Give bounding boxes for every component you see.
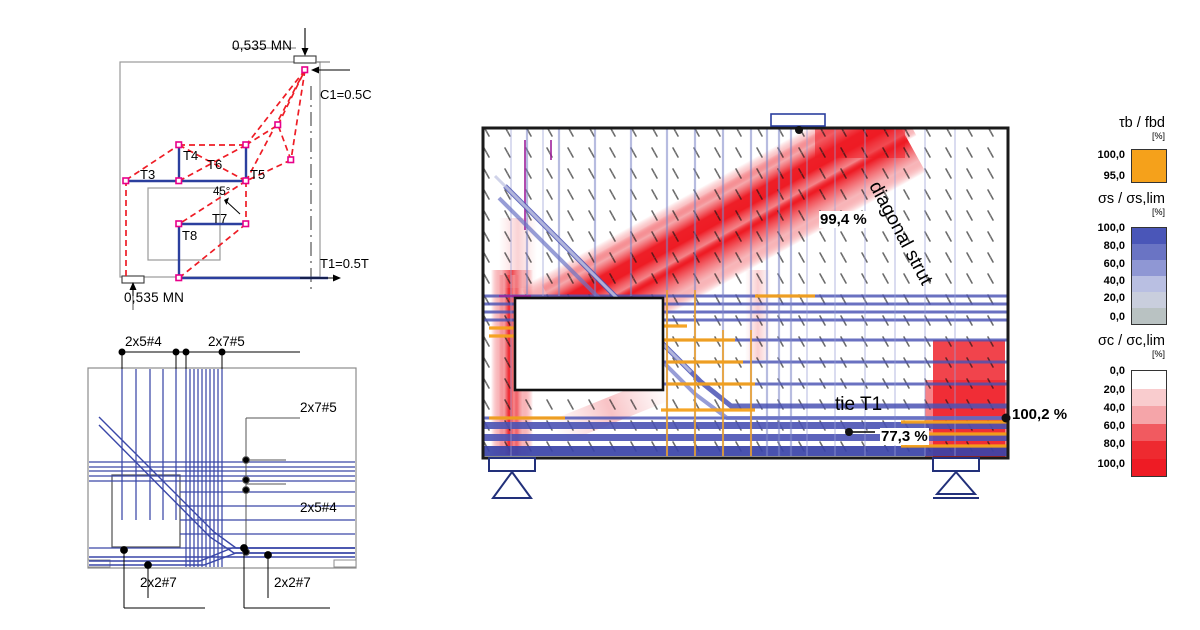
bond-stress-colorbar bbox=[1131, 149, 1167, 183]
tie-label-T8: T8 bbox=[182, 228, 197, 243]
reinforcement-panel: 2x5#4 2x7#5 2x7#5 2x5#4 2x2#7 2x2#7 bbox=[0, 320, 420, 630]
steel-seg-4 bbox=[1132, 292, 1166, 308]
concrete-seg-0 bbox=[1132, 371, 1166, 389]
steel-stress-colorbar bbox=[1131, 227, 1167, 325]
bottom-bearing-plate bbox=[122, 276, 144, 283]
bond-tick-1: 95,0 bbox=[1055, 170, 1125, 182]
steel-tick-5: 0,0 bbox=[1055, 311, 1125, 323]
steel-tick-3: 40,0 bbox=[1055, 275, 1125, 287]
load-arrows bbox=[130, 28, 351, 310]
concrete-tick-4: 80,0 bbox=[1055, 438, 1125, 450]
legend-panel: τb / fbd [%] 100,0 95,0 σs / σs,lim [%] … bbox=[1035, 115, 1200, 535]
concrete-tick-5: 100,0 bbox=[1049, 458, 1125, 470]
compression-force-label: C1=0.5C bbox=[320, 87, 372, 102]
scale-title-concrete: σc / σc,lim bbox=[1035, 333, 1165, 349]
opening-cutout bbox=[515, 298, 663, 390]
right-support bbox=[933, 458, 979, 498]
scale-title-bond: τb / fbd bbox=[1035, 115, 1165, 131]
concrete-tick-3: 60,0 bbox=[1055, 420, 1125, 432]
annotation-top-utilisation: 99,4 % bbox=[819, 211, 868, 228]
scale-unit-bond: [%] bbox=[1035, 131, 1165, 141]
vertical-bars-right bbox=[186, 369, 222, 567]
left-support bbox=[489, 458, 535, 498]
steel-seg-3 bbox=[1132, 276, 1166, 292]
vertical-bars-left bbox=[122, 369, 176, 520]
callout-right-upper: 2x7#5 bbox=[300, 400, 337, 415]
annotation-tie-utilisation: 77,3 % bbox=[880, 428, 929, 445]
callout-bottom-right: 2x2#7 bbox=[274, 575, 311, 590]
steel-tick-0: 100,0 bbox=[1055, 222, 1125, 234]
steel-stress-scale-title: σs / σs,lim [%] bbox=[1035, 191, 1165, 217]
tie-label-T6: T6 bbox=[207, 157, 222, 172]
callout-top-left: 2x5#4 bbox=[125, 334, 162, 349]
fem-plot-panel: 99,4 % 77,3 % 100,2 % tie T1 diagonal st… bbox=[455, 100, 1035, 530]
steel-seg-2 bbox=[1132, 260, 1166, 276]
callout-bottom-left: 2x2#7 bbox=[140, 575, 177, 590]
concrete-seg-2 bbox=[1132, 406, 1166, 424]
fem-stress-field bbox=[455, 100, 1035, 530]
top-dimension-line bbox=[119, 349, 300, 369]
angle-label: 45° bbox=[213, 186, 230, 198]
bottom-load-label: 0,535 MN bbox=[124, 290, 184, 305]
callout-top-right: 2x7#5 bbox=[208, 334, 245, 349]
scale-unit-steel: [%] bbox=[1035, 207, 1165, 217]
tie-label-T4: T4 bbox=[183, 148, 198, 163]
right-bearing-plate bbox=[334, 560, 356, 567]
tie-label-T7: T7 bbox=[212, 211, 227, 226]
steel-seg-5 bbox=[1132, 308, 1166, 324]
steel-seg-0 bbox=[1132, 228, 1166, 244]
concrete-tick-1: 20,0 bbox=[1055, 384, 1125, 396]
top-load-label: 0,535 MN bbox=[232, 38, 292, 53]
concrete-seg-5 bbox=[1132, 459, 1166, 477]
tie-label-T5: T5 bbox=[250, 167, 265, 182]
concrete-stress-colorbar bbox=[1131, 370, 1167, 477]
steel-seg-1 bbox=[1132, 244, 1166, 260]
concrete-stress-scale-title: σc / σc,lim [%] bbox=[1035, 333, 1165, 359]
reinforcement-drawing bbox=[0, 320, 420, 630]
steel-tick-4: 20,0 bbox=[1055, 292, 1125, 304]
concrete-seg-1 bbox=[1132, 389, 1166, 407]
concrete-tick-0: 0,0 bbox=[1055, 365, 1125, 377]
top-bearing-plate bbox=[294, 56, 316, 63]
annotation-tie-label: tie T1 bbox=[835, 394, 882, 416]
steel-tick-2: 60,0 bbox=[1055, 258, 1125, 270]
concrete-seg-4 bbox=[1132, 441, 1166, 459]
concrete-seg-3 bbox=[1132, 424, 1166, 442]
right-callout-leader bbox=[243, 418, 300, 555]
tie-label-T3: T3 bbox=[140, 167, 155, 182]
scale-unit-concrete: [%] bbox=[1035, 349, 1165, 359]
strut-and-tie-panel: 0,535 MN 0,535 MN C1=0.5C T1=0.5T T3 T4 … bbox=[0, 0, 420, 320]
concrete-tick-2: 40,0 bbox=[1055, 402, 1125, 414]
callout-right-lower: 2x5#4 bbox=[300, 500, 337, 515]
steel-tick-1: 80,0 bbox=[1055, 240, 1125, 252]
tension-force-label: T1=0.5T bbox=[320, 256, 369, 271]
bond-stress-scale-title: τb / fbd [%] bbox=[1035, 115, 1165, 141]
diagonal-bars bbox=[99, 417, 355, 553]
bond-tick-0: 100,0 bbox=[1055, 149, 1125, 161]
bottom-chord-tie bbox=[483, 422, 1008, 456]
scale-title-steel: σs / σs,lim bbox=[1035, 191, 1165, 207]
